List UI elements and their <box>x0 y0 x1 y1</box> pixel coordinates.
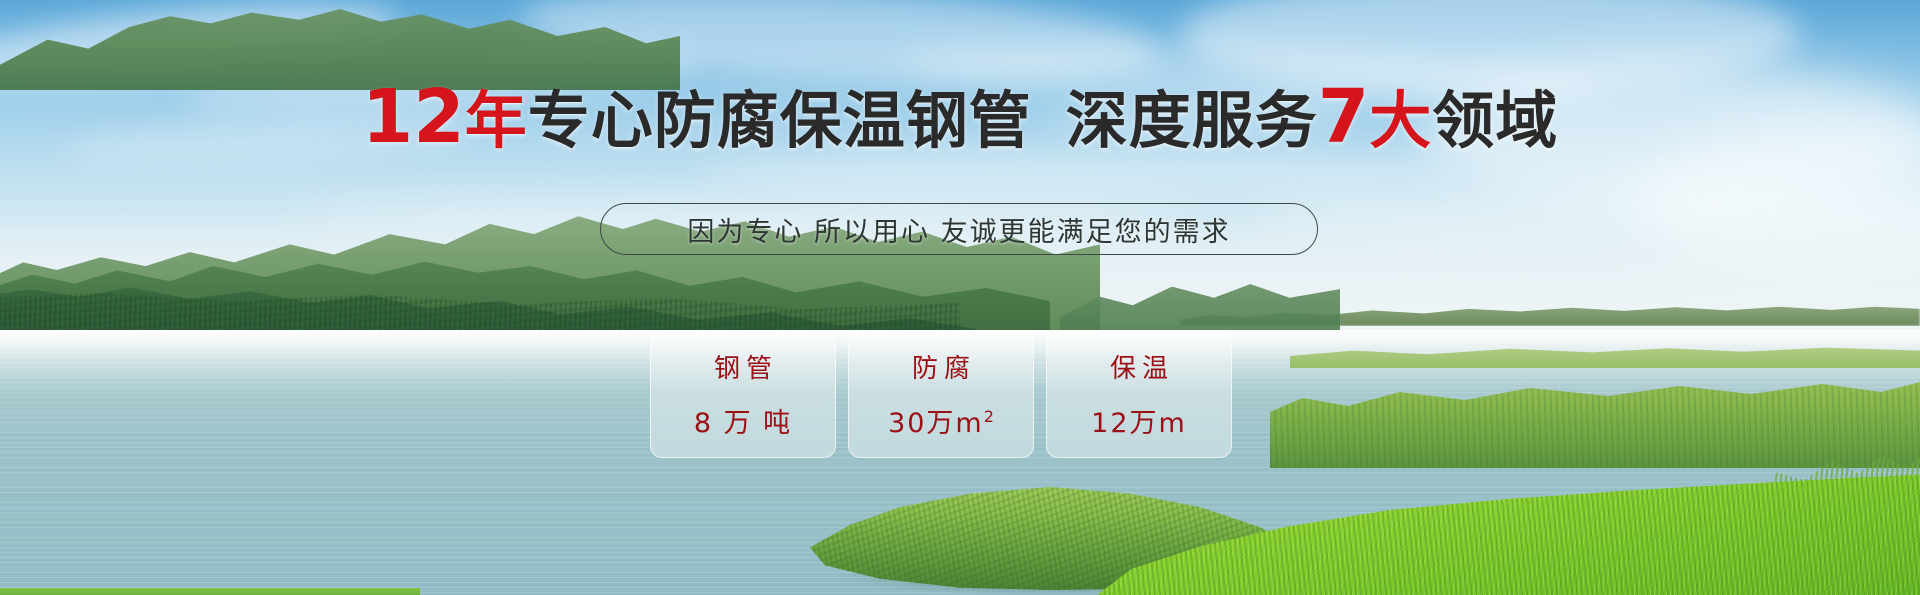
stat-card-steel-pipe: 钢管 8 万 吨 <box>650 330 836 458</box>
headline-service-text: 深度服务 <box>1066 84 1318 157</box>
promo-banner: 12年专心防腐保温钢管深度服务7大领域 因为专心 所以用心 友诚更能满足您的需求… <box>0 0 1920 595</box>
stat-value: 12万m <box>1091 401 1187 440</box>
stat-card-anticorrosion: 防腐 30万m2 <box>848 330 1034 458</box>
stat-title: 保温 <box>1104 348 1174 385</box>
stat-card-insulation: 保温 12万m <box>1046 330 1232 458</box>
headline-years-unit: 年 <box>465 84 528 157</box>
stat-value-superscript: 2 <box>984 407 994 426</box>
stat-value: 8 万 吨 <box>694 401 792 440</box>
stat-card-group: 钢管 8 万 吨 防腐 30万m2 保温 12万m <box>650 330 1232 458</box>
headline-main-text: 专心防腐保温钢管 <box>528 84 1032 157</box>
stat-value: 30万m2 <box>888 401 994 440</box>
headline-fields-unit: 大 <box>1369 84 1432 157</box>
grass-field-left <box>0 588 420 595</box>
stat-value-text: 12万m <box>1091 408 1187 439</box>
headline-fields-number: 7 <box>1318 74 1370 160</box>
stat-title: 钢管 <box>708 348 778 385</box>
subtitle-pill: 因为专心 所以用心 友诚更能满足您的需求 <box>600 203 1318 255</box>
headline-fields-text: 领域 <box>1432 84 1558 157</box>
banner-headline: 12年专心防腐保温钢管深度服务7大领域 <box>0 82 1920 156</box>
subtitle-text: 因为专心 所以用心 友诚更能满足您的需求 <box>687 210 1230 249</box>
headline-years-number: 12 <box>362 74 465 160</box>
stat-title: 防腐 <box>906 348 976 385</box>
stat-value-text: 30万m <box>888 408 984 439</box>
stat-value-text: 8 万 吨 <box>694 408 792 439</box>
